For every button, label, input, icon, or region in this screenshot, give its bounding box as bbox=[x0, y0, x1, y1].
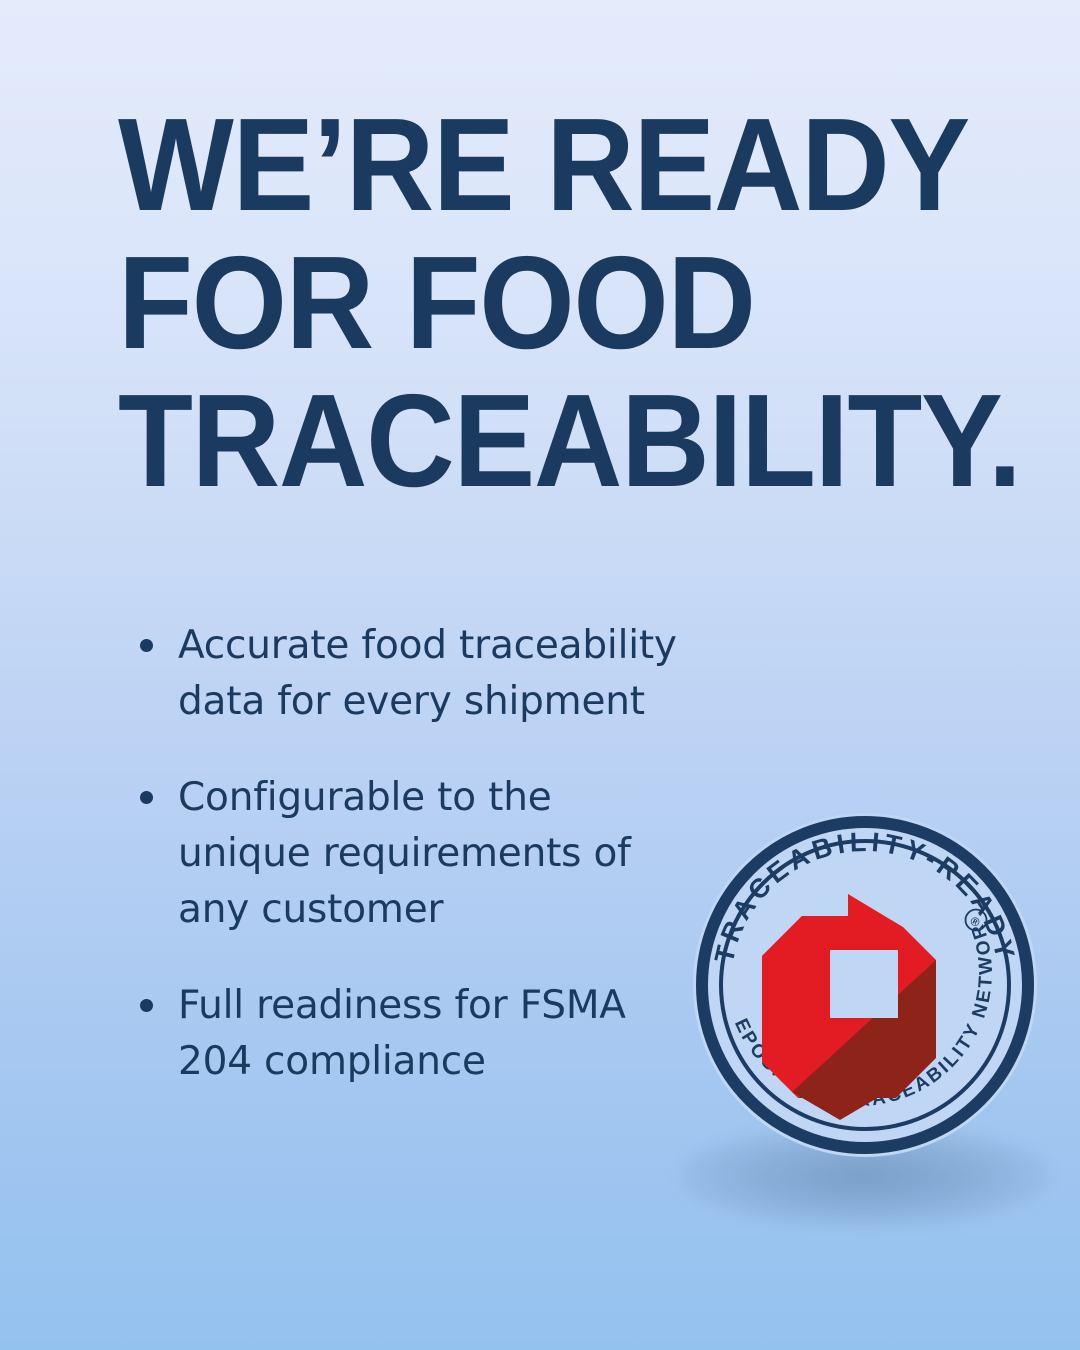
logo-center-square bbox=[830, 950, 898, 1018]
bullet-dot-icon bbox=[140, 639, 153, 652]
bullet-dot-icon bbox=[140, 791, 153, 804]
feature-bullet-list: Accurate food traceability data for ever… bbox=[136, 618, 696, 1090]
headline-line-2: FOR FOOD bbox=[118, 234, 955, 372]
poster-canvas: WE’RE READY FOR FOOD TRACEABILITY. Accur… bbox=[0, 0, 1080, 1350]
list-item: Configurable to the unique requirements … bbox=[136, 770, 696, 938]
bullet-text: Configurable to the unique requirements … bbox=[178, 775, 631, 932]
list-item: Full readiness for FSMA 204 compliance bbox=[136, 978, 696, 1090]
headline-line-3: TRACEABILITY. bbox=[118, 372, 955, 510]
page-title: WE’RE READY FOR FOOD TRACEABILITY. bbox=[118, 96, 1018, 510]
headline-line-1: WE’RE READY bbox=[118, 96, 955, 234]
list-item: Accurate food traceability data for ever… bbox=[136, 618, 696, 730]
bullet-dot-icon bbox=[140, 999, 153, 1012]
bullet-text: Full readiness for FSMA 204 compliance bbox=[178, 983, 626, 1084]
traceability-ready-badge: TRACEABILITY-READY REPOSITRAK TRACEABILI… bbox=[688, 808, 1042, 1162]
badge-seal-graphic: TRACEABILITY-READY REPOSITRAK TRACEABILI… bbox=[688, 808, 1042, 1162]
bullet-text: Accurate food traceability data for ever… bbox=[178, 623, 677, 724]
